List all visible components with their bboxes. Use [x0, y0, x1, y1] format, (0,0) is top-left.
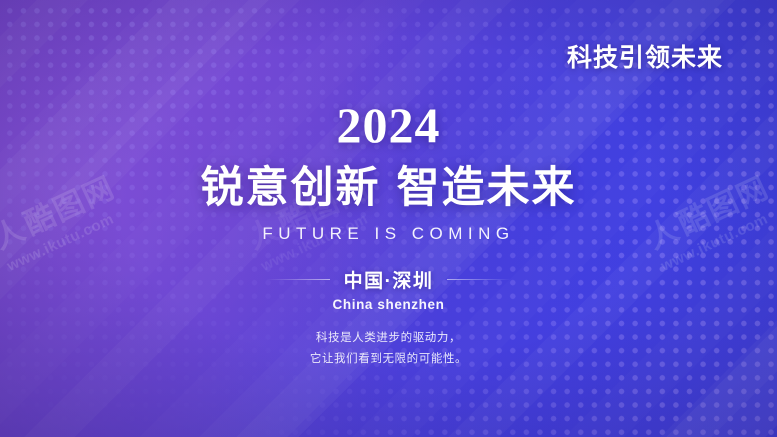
location-divider-row: 中国·深圳: [0, 266, 777, 293]
poster-content: 2024 锐意创新智造未来 FUTURE IS COMING 中国·深圳 Chi…: [0, 100, 777, 371]
main-headline: 锐意创新智造未来: [0, 164, 777, 212]
year-title: 2024: [0, 100, 777, 150]
location-label-en: China shenzhen: [0, 297, 777, 312]
body-copy-line-2: 它让我们看到无限的可能性。: [0, 349, 777, 370]
promo-poster: 人酷图网 www.ikutu.com 人酷图网 www.ikutu.com 人酷…: [0, 0, 777, 437]
body-copy: 科技是人类进步的驱动力， 它让我们看到无限的可能性。: [0, 328, 777, 371]
headline-part-2: 智造未来: [397, 164, 577, 212]
location-label-cn: 中国·深圳: [344, 266, 434, 293]
body-copy-line-1: 科技是人类进步的驱动力，: [0, 328, 777, 349]
divider-line-right: [447, 279, 511, 280]
divider-line-left: [266, 279, 330, 280]
english-subtitle: FUTURE IS COMING: [0, 224, 777, 244]
headline-part-1: 锐意创新: [201, 164, 381, 212]
header-tagline: 科技引领未来: [567, 38, 723, 74]
